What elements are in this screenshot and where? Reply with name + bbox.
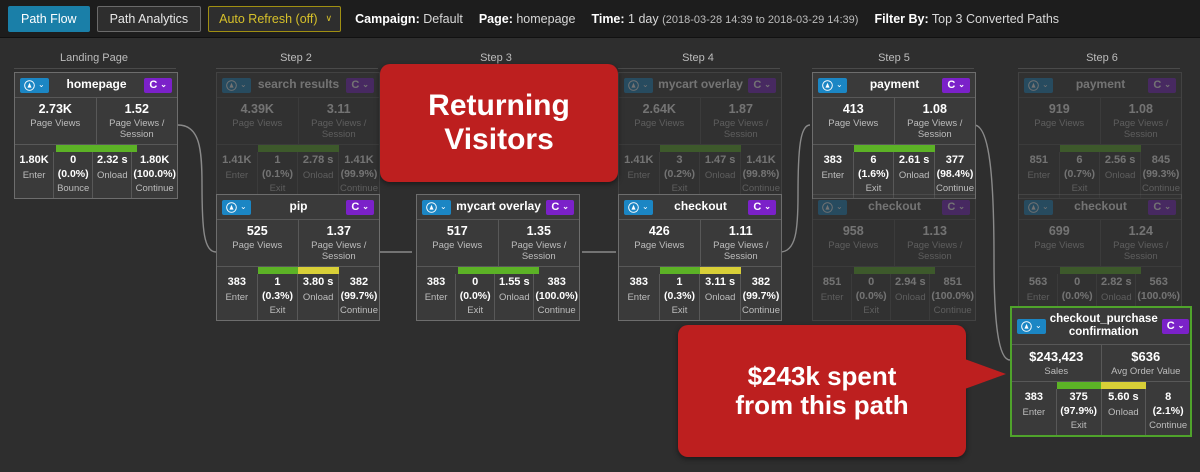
node-metrics-bottom: 383Enter0(0.0%)Exit1.55 sOnload383(100.0…: [417, 274, 579, 320]
flow-percent: (98.4%): [936, 168, 974, 181]
conversion-badge[interactable]: C⌄: [748, 200, 776, 215]
bar-segment-empty: [217, 267, 258, 274]
node-bar-strip: [217, 145, 379, 152]
n-checkout-s5[interactable]: ⌄checkoutC⌄958Page Views1.13Page Views /…: [812, 194, 976, 321]
flow-label: Onload: [1103, 407, 1145, 418]
n-mycart-overlay-s4[interactable]: ⌄mycart overlayC⌄2.64KPage Views1.87Page…: [618, 72, 782, 199]
conversion-badge-caret: ⌄: [160, 81, 167, 89]
node-metrics-top: 958Page Views1.13Page Views / Session: [813, 219, 975, 267]
node-header: ⌄paymentC⌄: [1019, 73, 1181, 97]
conversion-badge-caret: ⌄: [958, 203, 965, 211]
bar-segment-green: [1060, 267, 1101, 274]
metric-value: 699: [1021, 224, 1098, 238]
filter-label: Filter By:: [874, 12, 928, 26]
bar-segment-green: [458, 267, 499, 274]
flow-value: 375: [1058, 391, 1100, 405]
flow-cell: 1.80KEnter: [15, 152, 53, 198]
flow-percent: (0.0%): [853, 290, 889, 303]
campaign-label: Campaign:: [355, 12, 420, 26]
n-pip[interactable]: ⌄pipC⌄525Page Views1.37Page Views / Sess…: [216, 194, 380, 321]
metric-label: Page Views / Session: [501, 240, 578, 262]
callout-spend-tail: [962, 358, 1006, 390]
node-header: ⌄paymentC⌄: [813, 73, 975, 97]
flow-cell: 3.11 sOnload: [699, 274, 740, 320]
conversion-badge[interactable]: C⌄: [942, 200, 970, 215]
metric-label: Page Views / Session: [703, 240, 780, 262]
bar-segment-empty: [1146, 382, 1191, 389]
flow-cell: 0(0.0%)Exit: [851, 274, 890, 320]
page-label: Page:: [479, 12, 513, 26]
metric-label: Page Views / Session: [1103, 118, 1180, 140]
flow-label: Onload: [701, 170, 739, 181]
metric-label: Page Views: [621, 118, 698, 129]
metric-cell: 1.08Page Views / Session: [1100, 98, 1182, 144]
flow-percent: (99.8%): [742, 168, 780, 181]
filter-summary: Campaign: Default Page: homepage Time: 1…: [355, 12, 1075, 26]
flow-label: Continue: [742, 183, 780, 194]
visitor-segment-badge[interactable]: ⌄: [422, 200, 451, 215]
time-group: Time: 1 day (2018-03-28 14:39 to 2018-03…: [591, 12, 858, 26]
metric-cell: 1.08Page Views / Session: [894, 98, 976, 144]
node-header: ⌄search resultsC⌄: [217, 73, 379, 97]
metric-value: 413: [815, 102, 892, 116]
conversion-badge-letter: C: [947, 80, 955, 91]
visitor-icon: [1028, 80, 1039, 91]
bar-segment-empty: [619, 267, 660, 274]
node-metrics-top: 413Page Views1.08Page Views / Session: [813, 97, 975, 145]
bar-segment-green: [1100, 145, 1141, 152]
node-metrics-bottom: 1.80KEnter0(0.0%)Bounce2.32 sOnload1.80K…: [15, 152, 177, 198]
visitor-icon: [628, 80, 639, 91]
flow-cell: 1.41KEnter: [619, 152, 659, 198]
metric-value: 2.64K: [621, 102, 698, 116]
bar-segment-empty: [813, 267, 854, 274]
flow-value: 383: [620, 276, 658, 290]
visitor-icon: [628, 202, 639, 213]
conversion-badge-letter: C: [149, 80, 157, 91]
bar-segment-empty: [417, 267, 458, 274]
metric-cell: 4.39KPage Views: [217, 98, 298, 144]
flow-percent: (100.0%): [133, 168, 176, 181]
flow-value: 1.55 s: [496, 276, 532, 290]
node-bar-strip: [217, 267, 379, 274]
metric-label: Page Views: [815, 240, 892, 251]
node-title: checkout: [1053, 200, 1149, 214]
node-title: mycart overlay: [653, 78, 749, 92]
auto-refresh-dropdown[interactable]: Auto Refresh (off) ∨: [208, 6, 341, 32]
flow-value: 383: [814, 154, 852, 168]
conversion-badge-caret: ⌄: [1164, 203, 1171, 211]
metric-label: Sales: [1014, 366, 1099, 377]
flow-value: 1.41K: [218, 154, 256, 168]
conversion-badge-letter: C: [1167, 321, 1175, 332]
node-bar-strip: [813, 267, 975, 274]
visitor-segment-badge[interactable]: ⌄: [222, 200, 251, 215]
node-metrics-bottom: 383Enter6(1.6%)Exit2.61 sOnload377(98.4%…: [813, 152, 975, 198]
flow-label: Bounce: [55, 183, 91, 194]
node-title: mycart overlay: [451, 200, 547, 214]
flow-cell: 382(99.7%)Continue: [338, 274, 379, 320]
flow-label: Enter: [814, 170, 852, 181]
node-metrics-top: 525Page Views1.37Page Views / Session: [217, 219, 379, 267]
visitor-icon: [822, 202, 833, 213]
metric-cell: $243,423Sales: [1012, 345, 1101, 381]
metric-label: Avg Order Value: [1104, 366, 1189, 377]
flow-cell: 377(98.4%)Continue: [934, 152, 975, 198]
flow-cell: 1.47 sOnload: [699, 152, 740, 198]
metric-label: Page Views / Session: [703, 118, 780, 140]
chevron-down-icon: ∨: [326, 14, 333, 23]
step-label-1: Step 2: [206, 52, 386, 64]
visitor-segment-badge[interactable]: ⌄: [20, 78, 49, 93]
bar-segment-green: [700, 145, 741, 152]
callout-spend: $243k spent from this path: [678, 325, 966, 457]
metric-value: 958: [815, 224, 892, 238]
conversion-badge-caret: ⌄: [1164, 81, 1171, 89]
flow-value: 0: [853, 276, 889, 290]
visitor-segment-badge[interactable]: ⌄: [818, 200, 847, 215]
flow-label: Enter: [218, 170, 256, 181]
flow-percent: (1.6%): [855, 168, 893, 181]
visitor-badge-caret: ⌄: [1035, 322, 1042, 330]
callout-spend-line2: from this path: [735, 391, 908, 420]
metric-value: 1.24: [1103, 224, 1180, 238]
flow-label: Onload: [892, 292, 928, 303]
flow-label: Enter: [16, 170, 52, 181]
conversion-badge[interactable]: C⌄: [546, 200, 574, 215]
auto-refresh-label: Auto Refresh (off): [219, 12, 317, 26]
flow-percent: (0.3%): [259, 290, 297, 303]
visitor-icon: [1021, 321, 1032, 332]
visitor-segment-badge[interactable]: ⌄: [1024, 78, 1053, 93]
flow-value: 2.78 s: [299, 154, 337, 168]
visitor-segment-badge[interactable]: ⌄: [1024, 200, 1053, 215]
flow-cell: 3.80 sOnload: [297, 274, 338, 320]
flow-percent: (0.0%): [55, 168, 91, 181]
path-flow-app: Path Flow Path Analytics Auto Refresh (o…: [0, 0, 1200, 472]
conversion-badge[interactable]: C⌄: [346, 200, 374, 215]
flow-cell: 6(0.7%)Exit: [1059, 152, 1100, 198]
bar-segment-green: [258, 267, 299, 274]
conversion-badge-caret: ⌄: [562, 203, 569, 211]
conversion-badge-letter: C: [753, 80, 761, 91]
step-label-4: Step 5: [804, 52, 984, 64]
conversion-badge[interactable]: C⌄: [1148, 78, 1176, 93]
flow-cell: 2.78 sOnload: [297, 152, 338, 198]
flow-cell: 851Enter: [813, 274, 851, 320]
flow-percent: (0.1%): [259, 168, 297, 181]
flow-percent: (99.7%): [742, 290, 780, 303]
flow-value: 1.41K: [340, 154, 378, 168]
step-rule-0: [14, 68, 176, 69]
metric-value: 1.52: [99, 102, 176, 116]
flow-label: Onload: [1101, 170, 1139, 181]
campaign-value: Default: [423, 12, 463, 26]
conversion-badge-caret: ⌄: [764, 81, 771, 89]
conversion-badge[interactable]: C⌄: [346, 78, 374, 93]
metric-label: Page Views: [1021, 240, 1098, 251]
flow-cell: 851(100.0%)Continue: [929, 274, 975, 320]
node-metrics-bottom: 851Enter6(0.7%)Exit2.56 sOnload845(99.3%…: [1019, 152, 1181, 198]
metric-value: 2.73K: [17, 102, 94, 116]
conversion-badge-caret: ⌄: [1178, 322, 1185, 330]
flow-percent: (97.9%): [1058, 405, 1100, 418]
visitor-segment-badge[interactable]: ⌄: [624, 78, 653, 93]
visitor-icon: [24, 80, 35, 91]
bar-segment-green: [298, 145, 339, 152]
bar-segment-empty: [1141, 145, 1182, 152]
bar-segment-empty: [813, 145, 854, 152]
bar-segment-green: [258, 145, 299, 152]
node-metrics-top: 2.73KPage Views1.52Page Views / Session: [15, 97, 177, 145]
visitor-segment-badge[interactable]: ⌄: [222, 78, 251, 93]
node-metrics-bottom: 1.41KEnter3(0.2%)Exit1.47 sOnload1.41K(9…: [619, 152, 781, 198]
flow-cell: 2.94 sOnload: [890, 274, 929, 320]
flow-value: 1.80K: [133, 154, 176, 168]
n-checkout-s6[interactable]: ⌄checkoutC⌄699Page Views1.24Page Views /…: [1018, 194, 1182, 321]
n-payment-s5[interactable]: ⌄paymentC⌄413Page Views1.08Page Views / …: [812, 72, 976, 199]
flow-cell: 8(2.1%)Continue: [1145, 389, 1190, 435]
flow-value: 1.47 s: [701, 154, 739, 168]
flow-value: 383: [535, 276, 578, 290]
flow-label: Exit: [853, 305, 889, 316]
node-bar-strip: [1019, 267, 1181, 274]
flow-cell: 383Enter: [217, 274, 257, 320]
visitor-icon: [226, 202, 237, 213]
visitor-badge-caret: ⌄: [642, 203, 649, 211]
metric-cell: 1.24Page Views / Session: [1100, 220, 1182, 266]
conversion-badge-letter: C: [753, 202, 761, 213]
step-rule-3: [618, 68, 780, 69]
conversion-badge-letter: C: [351, 80, 359, 91]
node-title: checkout: [653, 200, 749, 214]
n-checkout-s4[interactable]: ⌄checkoutC⌄426Page Views1.11Page Views /…: [618, 194, 782, 321]
metric-value: 1.37: [301, 224, 378, 238]
bar-segment-green: [854, 145, 895, 152]
flow-cell: 383(100.0%)Continue: [533, 274, 579, 320]
visitor-segment-badge[interactable]: ⌄: [818, 78, 847, 93]
step-label-2: Step 3: [406, 52, 586, 64]
tab-path-flow[interactable]: Path Flow: [8, 6, 90, 32]
flow-cell: 851Enter: [1019, 152, 1059, 198]
visitor-badge-caret: ⌄: [240, 81, 247, 89]
metric-label: Page Views / Session: [897, 240, 974, 262]
visitor-icon: [1028, 202, 1039, 213]
conversion-badge[interactable]: C⌄: [1148, 200, 1176, 215]
node-title: checkout_purchase confirmation: [1046, 313, 1162, 339]
flow-percent: (0.0%): [457, 290, 493, 303]
metric-value: 4.39K: [219, 102, 296, 116]
step-label-0: Landing Page: [4, 52, 184, 64]
flow-cell: 1(0.3%)Exit: [257, 274, 298, 320]
bar-segment-empty: [539, 267, 580, 274]
metric-cell: 1.87Page Views / Session: [700, 98, 782, 144]
flow-cell: 1(0.1%)Exit: [257, 152, 298, 198]
metric-cell: 699Page Views: [1019, 220, 1100, 266]
metric-cell: $636Avg Order Value: [1101, 345, 1191, 381]
node-bar-strip: [15, 145, 177, 152]
visitor-badge-caret: ⌄: [642, 81, 649, 89]
flow-cell: 3(0.2%)Exit: [659, 152, 700, 198]
flow-label: Exit: [661, 305, 699, 316]
bar-segment-empty: [619, 145, 660, 152]
metric-label: Page Views / Session: [99, 118, 176, 140]
conversion-badge-letter: C: [351, 202, 359, 213]
tab-path-analytics[interactable]: Path Analytics: [97, 6, 202, 32]
flow-value: 383: [1013, 391, 1055, 405]
flow-value: 1: [661, 276, 699, 290]
flow-percent: (0.7%): [1061, 168, 1099, 181]
flow-percent: (99.7%): [340, 290, 378, 303]
conversion-badge-letter: C: [947, 202, 955, 213]
flow-label: Enter: [218, 292, 256, 303]
step-label-5: Step 6: [1012, 52, 1192, 64]
flow-percent: (0.0%): [1059, 290, 1095, 303]
metric-cell: 1.11Page Views / Session: [700, 220, 782, 266]
visitor-segment-badge[interactable]: ⌄: [624, 200, 653, 215]
conversion-badge-letter: C: [551, 202, 559, 213]
visitor-icon: [822, 80, 833, 91]
flow-value: 2.61 s: [895, 154, 933, 168]
flow-percent: (2.1%): [1147, 405, 1189, 418]
metric-value: 426: [621, 224, 698, 238]
conversion-badge-caret: ⌄: [362, 81, 369, 89]
node-metrics-top: $243,423Sales$636Avg Order Value: [1012, 344, 1190, 382]
bar-segment-empty: [339, 145, 380, 152]
metric-label: Page Views / Session: [301, 118, 378, 140]
bar-segment-green: [660, 145, 701, 152]
metric-cell: 1.13Page Views / Session: [894, 220, 976, 266]
flow-cell: 382(99.7%)Continue: [740, 274, 781, 320]
metric-value: 1.35: [501, 224, 578, 238]
flow-label: Onload: [1098, 292, 1134, 303]
flow-cell: 383Enter: [417, 274, 455, 320]
node-title: payment: [847, 78, 943, 92]
metric-value: 517: [419, 224, 496, 238]
flow-value: 8: [1147, 391, 1189, 405]
node-metrics-bottom: 383Enter375(97.9%)Exit5.60 sOnload8(2.1%…: [1012, 389, 1190, 435]
bar-segment-green: [96, 145, 137, 152]
flow-label: Exit: [259, 183, 297, 194]
metric-cell: 919Page Views: [1019, 98, 1100, 144]
flow-label: Continue: [133, 183, 176, 194]
node-title: pip: [251, 200, 347, 214]
node-header: ⌄checkout_purchase confirmationC⌄: [1012, 308, 1190, 344]
flow-label: Enter: [620, 292, 658, 303]
flow-cell: 2.32 sOnload: [92, 152, 131, 198]
metric-cell: 958Page Views: [813, 220, 894, 266]
flow-cell: 0(0.0%)Exit: [455, 274, 494, 320]
flow-cell: 2.56 sOnload: [1099, 152, 1140, 198]
flow-label: Onload: [299, 292, 337, 303]
bar-segment-green: [56, 145, 97, 152]
n-search-results[interactable]: ⌄search resultsC⌄4.39KPage Views3.11Page…: [216, 72, 380, 199]
n-homepage[interactable]: ⌄homepageC⌄2.73KPage Views1.52Page Views…: [14, 72, 178, 199]
metric-value: 3.11: [301, 102, 378, 116]
n-mycart-overlay-s3[interactable]: ⌄mycart overlayC⌄517Page Views1.35Page V…: [416, 194, 580, 321]
node-header: ⌄checkoutC⌄: [619, 195, 781, 219]
node-metrics-top: 426Page Views1.11Page Views / Session: [619, 219, 781, 267]
flow-cell: 1(0.3%)Exit: [659, 274, 700, 320]
node-header: ⌄mycart overlayC⌄: [417, 195, 579, 219]
flow-percent: (100.0%): [535, 290, 578, 303]
flow-value: 382: [340, 276, 378, 290]
flow-value: 0: [1059, 276, 1095, 290]
node-title: payment: [1053, 78, 1149, 92]
conversion-badge-letter: C: [1153, 80, 1161, 91]
bar-segment-green: [498, 267, 539, 274]
metric-cell: 1.35Page Views / Session: [498, 220, 580, 266]
conversion-badge-letter: C: [1153, 202, 1161, 213]
bar-segment-green: [1100, 267, 1141, 274]
flow-value: 377: [936, 154, 974, 168]
conversion-badge[interactable]: C⌄: [1162, 319, 1190, 334]
filter-value: Top 3 Converted Paths: [932, 12, 1059, 26]
bar-segment-green: [1060, 145, 1101, 152]
flow-label: Onload: [94, 170, 130, 181]
metric-label: Page Views / Session: [301, 240, 378, 262]
conversion-badge[interactable]: C⌄: [748, 78, 776, 93]
visitor-segment-badge[interactable]: ⌄: [1017, 319, 1046, 334]
metric-value: 1.08: [897, 102, 974, 116]
metric-value: $243,423: [1014, 349, 1099, 364]
bar-segment-yellow: [700, 267, 741, 274]
flow-value: 1.80K: [16, 154, 52, 168]
node-metrics-bottom: 1.41KEnter1(0.1%)Exit2.78 sOnload1.41K(9…: [217, 152, 379, 198]
flow-cell: 375(97.9%)Exit: [1056, 389, 1101, 435]
flow-cell: 1.55 sOnload: [494, 274, 533, 320]
node-title: homepage: [49, 78, 145, 92]
n-payment-s6[interactable]: ⌄paymentC⌄919Page Views1.08Page Views / …: [1018, 72, 1182, 199]
flow-value: 3: [661, 154, 699, 168]
metric-label: Page Views: [815, 118, 892, 129]
n-checkout-purchase-confirmation[interactable]: ⌄checkout_purchase confirmationC⌄$243,42…: [1010, 306, 1192, 437]
visitor-badge-caret: ⌄: [1042, 81, 1049, 89]
flow-percent: (0.2%): [661, 168, 699, 181]
flow-label: Enter: [1020, 292, 1056, 303]
bar-segment-green: [854, 267, 895, 274]
callout-returning-line2: Visitors: [428, 123, 570, 157]
bar-segment-empty: [1012, 382, 1057, 389]
flow-cell: 2.61 sOnload: [893, 152, 934, 198]
flow-percent: (99.9%): [340, 168, 378, 181]
step-rule-4: [812, 68, 974, 69]
visitor-badge-caret: ⌄: [836, 203, 843, 211]
visitor-badge-caret: ⌄: [240, 203, 247, 211]
conversion-badge[interactable]: C⌄: [942, 78, 970, 93]
visitor-badge-caret: ⌄: [836, 81, 843, 89]
bar-segment-green: [894, 267, 935, 274]
flow-label: Continue: [1147, 420, 1189, 431]
flow-value: 2.32 s: [94, 154, 130, 168]
node-header: ⌄checkoutC⌄: [1019, 195, 1181, 219]
flow-value: 1.41K: [620, 154, 658, 168]
metric-cell: 525Page Views: [217, 220, 298, 266]
conversion-badge[interactable]: C⌄: [144, 78, 172, 93]
flow-value: 1.41K: [742, 154, 780, 168]
flow-cell: 1.41K(99.8%)Continue: [740, 152, 781, 198]
flow-cell: 0(0.0%)Bounce: [53, 152, 92, 198]
metric-cell: 1.52Page Views / Session: [96, 98, 178, 144]
flow-label: Enter: [620, 170, 658, 181]
metric-value: 525: [219, 224, 296, 238]
time-value: 1 day: [628, 12, 659, 26]
metric-label: Page Views: [419, 240, 496, 251]
callout-returning-visitors: Returning Visitors: [380, 64, 618, 182]
metric-cell: 1.37Page Views / Session: [298, 220, 380, 266]
filter-group: Filter By: Top 3 Converted Paths: [874, 12, 1059, 26]
bar-segment-empty: [339, 267, 380, 274]
